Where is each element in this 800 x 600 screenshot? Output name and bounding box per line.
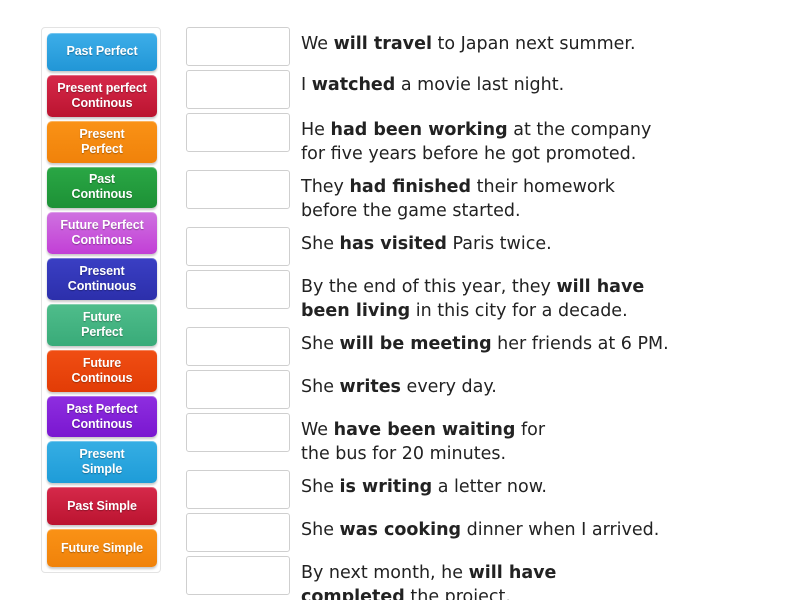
sentence-plain: She [301,334,340,354]
sentence-text: By the end of this year, they will have … [301,270,673,323]
drop-zone[interactable] [186,513,290,552]
drop-zone[interactable] [186,27,290,66]
sentence-plain: to Japan next summer. [432,34,636,54]
sentence-plain: the project. [405,587,511,600]
tile-label: Present perfect Continous [57,81,147,111]
sentence-plain: She [301,520,340,540]
sentence-rows-list: We will travel to Japan next summer.I wa… [186,27,786,600]
sentence-plain: dinner when I arrived. [461,520,659,540]
row-3: He had been working at the company for f… [186,113,786,166]
row-12: By next month, he will have completed th… [186,556,786,600]
row-1: We will travel to Japan next summer. [186,27,786,66]
tile-present-continuous[interactable]: Present Continuous [47,258,157,300]
row-10: She is writing a letter now. [186,470,786,509]
sentence-text: By next month, he will have completed th… [301,556,581,600]
sentence-plain: a movie last night. [395,75,564,95]
sentence-plain: They [301,177,349,197]
tile-present-simple[interactable]: Present Simple [47,441,157,483]
drop-zone[interactable] [186,170,290,209]
sentence-text: She has visited Paris twice. [301,227,661,256]
sentence-highlight: will travel [334,34,432,54]
drop-zone[interactable] [186,327,290,366]
sentence-text: She will be meeting her friends at 6 PM. [301,327,673,356]
drop-zone[interactable] [186,227,290,266]
sentence-plain: We [301,420,334,440]
sentence-highlight: had been working [331,120,508,140]
sentence-plain: We [301,34,334,54]
tile-future-perfect-continous[interactable]: Future Perfect Continous [47,212,157,254]
sentence-text: We have been waiting for the bus for 20 … [301,413,561,466]
sentence-plain: She [301,477,340,497]
tile-label: Future Perfect Continous [60,218,143,248]
tile-past-perfect-continous[interactable]: Past Perfect Continous [47,396,157,438]
sentence-text: He had been working at the company for f… [301,113,673,166]
row-9: We have been waiting for the bus for 20 … [186,413,786,466]
sentence-plain: I [301,75,312,95]
sentence-plain: By the end of this year, they [301,277,556,297]
sentence-highlight: has visited [340,234,447,254]
sentence-text: They had finished their homework before … [301,170,641,223]
sentence-plain: Paris twice. [447,234,552,254]
tile-label: Present Perfect [79,127,124,157]
drop-zone[interactable] [186,113,290,152]
tile-label: Past Continous [72,172,133,202]
drop-zone[interactable] [186,370,290,409]
sentence-plain: a letter now. [432,477,547,497]
sentence-text: She was cooking dinner when I arrived. [301,513,681,542]
tile-present-perfect[interactable]: Present Perfect [47,121,157,163]
tile-label: Past Simple [67,499,137,514]
drop-zone[interactable] [186,470,290,509]
row-8: She writes every day. [186,370,786,409]
sentence-plain: She [301,377,340,397]
tile-past-simple[interactable]: Past Simple [47,487,157,525]
row-4: They had finished their homework before … [186,170,786,223]
sentence-highlight: writes [340,377,401,397]
tile-label: Present Continuous [68,264,136,294]
tile-future-simple[interactable]: Future Simple [47,529,157,567]
row-11: She was cooking dinner when I arrived. [186,513,786,552]
sentence-plain: her friends at 6 PM. [492,334,669,354]
drop-zone[interactable] [186,413,290,452]
tile-past-continous[interactable]: Past Continous [47,167,157,209]
sentence-highlight: have been waiting [334,420,516,440]
sentence-highlight: was cooking [340,520,462,540]
tile-future-continous[interactable]: Future Continous [47,350,157,392]
tile-present-perfect-continous[interactable]: Present perfect Continous [47,75,157,117]
tile-label: Past Perfect Continous [66,402,137,432]
sentence-plain: every day. [401,377,497,397]
row-6: By the end of this year, they will have … [186,270,786,323]
sentence-highlight: will be meeting [340,334,492,354]
sentence-plain: in this city for a decade. [410,301,627,321]
drop-zone[interactable] [186,270,290,309]
drop-zone[interactable] [186,556,290,595]
sentence-plain: She [301,234,340,254]
tile-past-perfect[interactable]: Past Perfect [47,33,157,71]
sentence-highlight: watched [312,75,396,95]
sentence-text: We will travel to Japan next summer. [301,27,661,56]
tile-future-perfect[interactable]: Future Perfect [47,304,157,346]
row-5: She has visited Paris twice. [186,227,786,266]
sentence-highlight: had finished [349,177,471,197]
sentence-text: She is writing a letter now. [301,470,661,499]
answer-tiles-panel: Past PerfectPresent perfect ContinousPre… [41,27,161,573]
sentence-plain: He [301,120,331,140]
sentence-plain: By next month, he [301,563,469,583]
drop-zone[interactable] [186,70,290,109]
tile-label: Future Simple [61,541,143,556]
tile-label: Future Perfect [81,310,123,340]
tile-label: Future Continous [72,356,133,386]
row-2: I watched a movie last night. [186,70,786,109]
sentence-text: She writes every day. [301,370,661,399]
tile-label: Present Simple [79,447,124,477]
matching-activity-page: Past PerfectPresent perfect ContinousPre… [0,0,800,600]
sentence-highlight: is writing [340,477,433,497]
tile-label: Past Perfect [66,44,137,59]
row-7: She will be meeting her friends at 6 PM. [186,327,786,366]
sentence-text: I watched a movie last night. [301,70,661,97]
